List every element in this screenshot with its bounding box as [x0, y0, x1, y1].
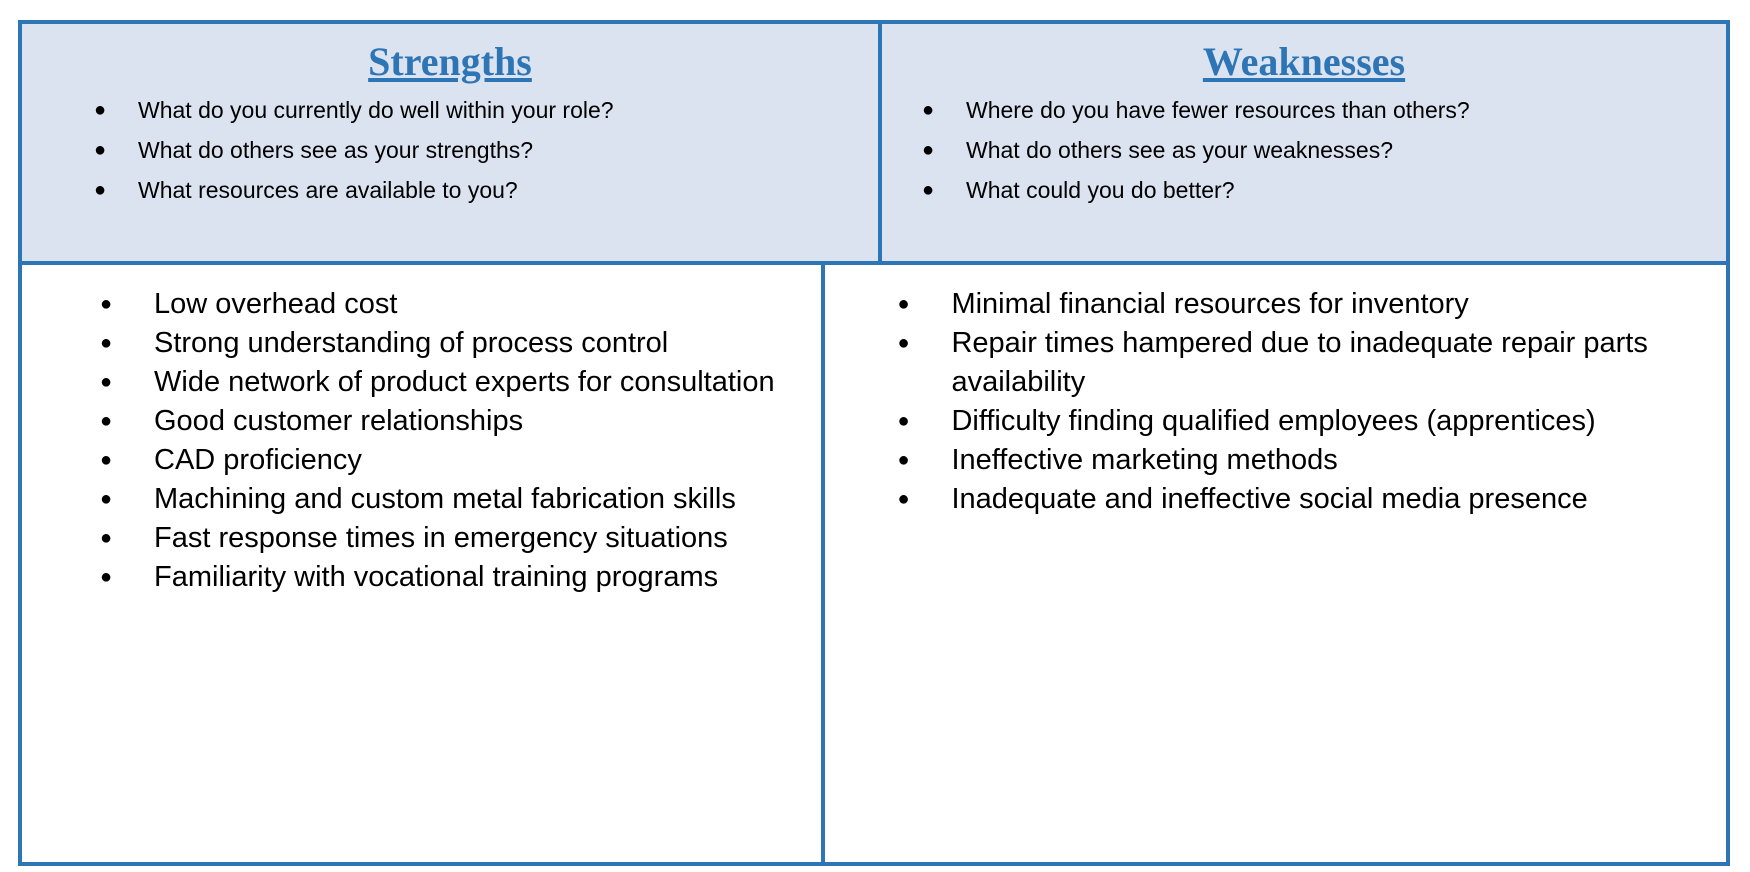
strengths-prompt-list: ●What do you currently do well within yo…	[22, 90, 878, 210]
list-item-label: Strong understanding of process control	[154, 324, 821, 363]
weaknesses-prompt-cell: Weaknesses ●Where do you have fewer reso…	[878, 24, 1726, 261]
list-item: ●Where do you have fewer resources than …	[922, 90, 1726, 130]
list-item-label: Good customer relationships	[154, 402, 821, 441]
swot-table: Strengths ●What do you currently do well…	[18, 20, 1730, 866]
bullet-icon: ●	[100, 285, 118, 324]
bullet-icon: ●	[897, 402, 915, 441]
strengths-findings-cell: ●Low overhead cost●Strong understanding …	[22, 265, 821, 862]
list-item-label: Difficulty finding qualified employees (…	[951, 402, 1726, 441]
list-item: ●What do others see as your weaknesses?	[922, 130, 1726, 170]
bullet-icon: ●	[897, 285, 915, 324]
bullet-icon: ●	[922, 130, 940, 170]
list-item: ●What do others see as your strengths?	[94, 130, 878, 170]
list-item: ●Fast response times in emergency situat…	[100, 519, 821, 558]
list-item-label: What could you do better?	[966, 170, 1726, 210]
list-item: ●Good customer relationships	[100, 402, 821, 441]
list-item-label: What do you currently do well within you…	[138, 90, 878, 130]
weaknesses-findings-list: ●Minimal financial resources for invento…	[825, 285, 1726, 519]
list-item: ●CAD proficiency	[100, 441, 821, 480]
bullet-icon: ●	[100, 441, 118, 480]
list-item: ●Repair times hampered due to inadequate…	[897, 324, 1726, 402]
list-item: ●Inadequate and ineffective social media…	[897, 480, 1726, 519]
list-item-label: Repair times hampered due to inadequate …	[951, 324, 1726, 402]
list-item: ●What do you currently do well within yo…	[94, 90, 878, 130]
bullet-icon: ●	[100, 402, 118, 441]
list-item-label: What do others see as your strengths?	[138, 130, 878, 170]
bullet-icon: ●	[100, 363, 118, 402]
weaknesses-prompt-list: ●Where do you have fewer resources than …	[882, 90, 1726, 210]
list-item: ●Machining and custom metal fabrication …	[100, 480, 821, 519]
bullet-icon: ●	[922, 170, 940, 210]
list-item: ●Ineffective marketing methods	[897, 441, 1726, 480]
strengths-findings-list: ●Low overhead cost●Strong understanding …	[22, 285, 821, 597]
bullet-icon: ●	[897, 441, 915, 480]
weaknesses-findings-cell: ●Minimal financial resources for invento…	[821, 265, 1726, 862]
list-item-label: Minimal financial resources for inventor…	[951, 285, 1726, 324]
list-item: ●Familiarity with vocational training pr…	[100, 558, 821, 597]
list-item-label: Familiarity with vocational training pro…	[154, 558, 821, 597]
bullet-icon: ●	[897, 480, 915, 519]
list-item: ●Minimal financial resources for invento…	[897, 285, 1726, 324]
list-item: ●Strong understanding of process control	[100, 324, 821, 363]
list-item-label: What resources are available to you?	[138, 170, 878, 210]
list-item-label: CAD proficiency	[154, 441, 821, 480]
list-item: ●What could you do better?	[922, 170, 1726, 210]
bullet-icon: ●	[100, 519, 118, 558]
list-item: ●Wide network of product experts for con…	[100, 363, 821, 402]
list-item-label: Inadequate and ineffective social media …	[951, 480, 1726, 519]
list-item-label: What do others see as your weaknesses?	[966, 130, 1726, 170]
bullet-icon: ●	[100, 480, 118, 519]
list-item: ●Difficulty finding qualified employees …	[897, 402, 1726, 441]
strengths-prompt-cell: Strengths ●What do you currently do well…	[22, 24, 878, 261]
bullet-icon: ●	[94, 90, 112, 130]
weaknesses-title: Weaknesses	[882, 24, 1726, 82]
list-item-label: Ineffective marketing methods	[951, 441, 1726, 480]
list-item-label: Wide network of product experts for cons…	[154, 363, 821, 402]
swot-findings-row: ●Low overhead cost●Strong understanding …	[22, 265, 1726, 862]
list-item-label: Low overhead cost	[154, 285, 821, 324]
bullet-icon: ●	[897, 324, 915, 363]
list-item-label: Fast response times in emergency situati…	[154, 519, 821, 558]
swot-prompt-row: Strengths ●What do you currently do well…	[22, 24, 1726, 265]
bullet-icon: ●	[922, 90, 940, 130]
bullet-icon: ●	[100, 324, 118, 363]
swot-page: Strengths ●What do you currently do well…	[0, 0, 1750, 872]
list-item: ●Low overhead cost	[100, 285, 821, 324]
list-item-label: Machining and custom metal fabrication s…	[154, 480, 821, 519]
bullet-icon: ●	[94, 170, 112, 210]
bullet-icon: ●	[94, 130, 112, 170]
bullet-icon: ●	[100, 558, 118, 597]
strengths-title: Strengths	[22, 24, 878, 82]
list-item: ●What resources are available to you?	[94, 170, 878, 210]
list-item-label: Where do you have fewer resources than o…	[966, 90, 1726, 130]
